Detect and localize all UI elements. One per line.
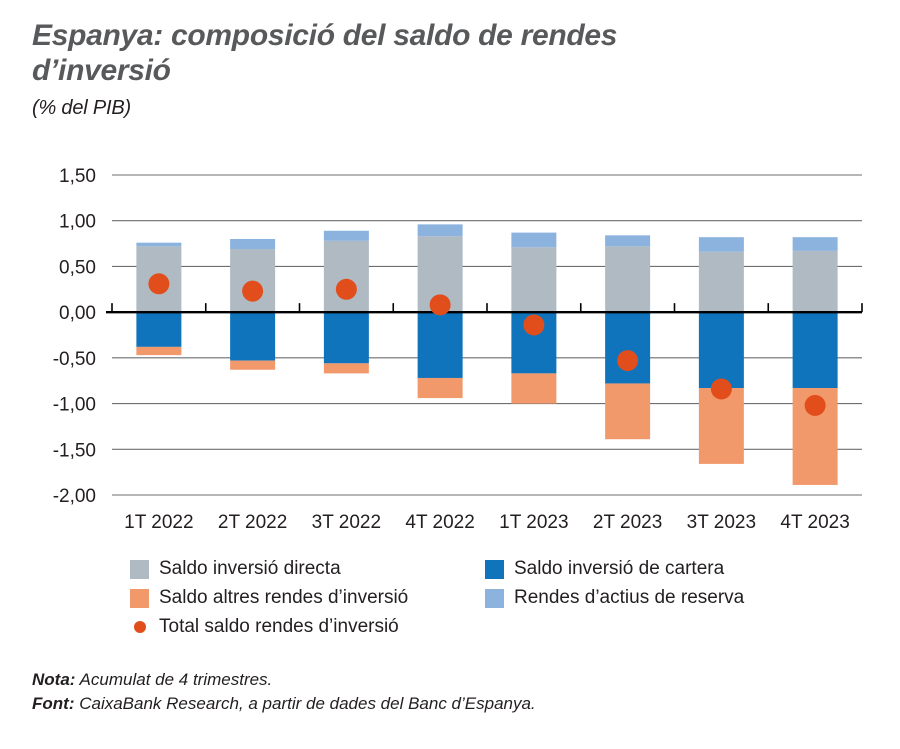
- y-axis-tick-label: -0,50: [53, 349, 96, 370]
- bar-segment: [511, 233, 556, 248]
- legend-label: Saldo inversió de cartera: [514, 558, 724, 580]
- bar-segment: [699, 237, 744, 252]
- chart-legend: Saldo inversió directa Saldo inversió de…: [130, 558, 870, 645]
- source-line: Font: CaixaBank Research, a partir de da…: [32, 692, 536, 716]
- square-swatch-icon: [485, 560, 504, 579]
- stacked-bar-chart: 1,501,000,500,00-0,50-1,00-1,50-2,001T 2…: [0, 150, 900, 550]
- x-axis-tick-label: 2T 2022: [218, 512, 287, 533]
- bar-segment: [418, 378, 463, 398]
- bar-segment: [605, 383, 650, 439]
- bar-segment: [605, 246, 650, 312]
- bar-segment: [324, 363, 369, 373]
- bar-segment: [699, 252, 744, 312]
- bar-segment: [418, 224, 463, 236]
- bar-segment: [605, 235, 650, 246]
- y-axis-tick-label: 0,50: [59, 257, 96, 278]
- bar-segment: [230, 312, 275, 360]
- note-text: Acumulat de 4 trimestres.: [80, 670, 273, 689]
- legend-item-other[interactable]: Saldo altres rendes d’inversió: [130, 587, 485, 609]
- bar-segment: [511, 247, 556, 312]
- legend-label: Total saldo rendes d’inversió: [159, 616, 399, 638]
- square-swatch-icon: [130, 589, 149, 608]
- y-axis-tick-label: 1,00: [59, 212, 96, 233]
- bar-segment: [793, 237, 838, 251]
- bar-segment: [511, 373, 556, 403]
- square-swatch-icon: [485, 589, 504, 608]
- source-label: Font:: [32, 694, 74, 713]
- bar-segment: [230, 239, 275, 249]
- legend-label: Saldo altres rendes d’inversió: [159, 587, 408, 609]
- total-marker-dot: [430, 294, 451, 315]
- y-axis-tick-label: 0,00: [59, 303, 96, 324]
- chart-plot-area: 1,501,000,500,00-0,50-1,00-1,50-2,001T 2…: [0, 150, 900, 550]
- chart-footnotes: Nota: Acumulat de 4 trimestres. Font: Ca…: [32, 668, 536, 716]
- bar-segment: [605, 312, 650, 383]
- legend-item-total[interactable]: Total saldo rendes d’inversió: [130, 616, 485, 638]
- chart-subtitle: (% del PIB): [32, 97, 870, 120]
- bar-segment: [136, 243, 181, 247]
- total-marker-dot: [336, 279, 357, 300]
- legend-item-portfolio[interactable]: Saldo inversió de cartera: [485, 558, 865, 580]
- legend-row: Saldo altres rendes d’inversió Rendes d’…: [130, 587, 870, 609]
- legend-item-direct[interactable]: Saldo inversió directa: [130, 558, 485, 580]
- y-axis-tick-label: 1,50: [59, 166, 96, 187]
- x-axis-tick-label: 3T 2023: [687, 512, 756, 533]
- total-marker-dot: [148, 273, 169, 294]
- x-axis-tick-label: 4T 2022: [405, 512, 474, 533]
- total-marker-dot: [523, 314, 544, 335]
- total-marker-dot: [805, 395, 826, 416]
- page-title: Espanya: composició del saldo de rendes …: [32, 18, 752, 89]
- bar-segment: [230, 361, 275, 370]
- bar-segment: [699, 312, 744, 388]
- circle-marker-icon: [130, 618, 149, 637]
- legend-label: Saldo inversió directa: [159, 558, 341, 580]
- total-marker-dot: [617, 350, 638, 371]
- legend-label: Rendes d’actius de reserva: [514, 587, 744, 609]
- total-marker-dot: [711, 378, 732, 399]
- note-label: Nota:: [32, 670, 75, 689]
- y-axis-tick-label: -1,50: [53, 440, 96, 461]
- source-text: CaixaBank Research, a partir de dades de…: [79, 694, 535, 713]
- bar-segment: [136, 312, 181, 347]
- x-axis-tick-label: 3T 2022: [312, 512, 381, 533]
- square-swatch-icon: [130, 560, 149, 579]
- bar-segment: [324, 231, 369, 241]
- bar-segment: [230, 249, 275, 312]
- legend-row: Total saldo rendes d’inversió: [130, 616, 870, 638]
- x-axis-tick-label: 1T 2023: [499, 512, 568, 533]
- x-axis-tick-label: 2T 2023: [593, 512, 662, 533]
- x-axis-tick-label: 1T 2022: [124, 512, 193, 533]
- y-axis-tick-label: -2,00: [53, 486, 96, 507]
- bar-segment: [324, 312, 369, 363]
- bar-segment: [136, 347, 181, 355]
- chart-header: Espanya: composició del saldo de rendes …: [0, 0, 900, 120]
- total-marker-dot: [242, 281, 263, 302]
- bar-segment: [793, 251, 838, 312]
- legend-row: Saldo inversió directa Saldo inversió de…: [130, 558, 870, 580]
- y-axis-tick-label: -1,00: [53, 395, 96, 416]
- note-line: Nota: Acumulat de 4 trimestres.: [32, 668, 536, 692]
- bar-segment: [418, 312, 463, 378]
- bar-segment: [793, 312, 838, 388]
- legend-item-reserve[interactable]: Rendes d’actius de reserva: [485, 587, 865, 609]
- x-axis-tick-label: 4T 2023: [780, 512, 849, 533]
- bar-segment: [324, 241, 369, 312]
